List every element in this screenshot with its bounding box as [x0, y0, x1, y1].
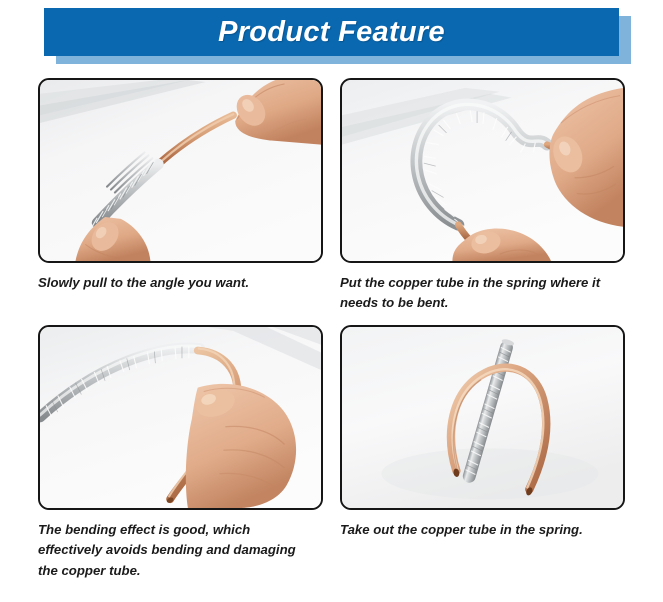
feature-cell-insert-tube: Put the copper tube in the spring where … — [340, 78, 625, 314]
feature-caption-take-out: Take out the copper tube in the spring. — [340, 520, 612, 540]
feature-caption-insert-tube: Put the copper tube in the spring where … — [340, 273, 612, 314]
feature-photo-take-out — [340, 325, 625, 510]
feature-cell-pull-angle: Slowly pull to the angle you want. — [38, 78, 323, 293]
hand-pulling-copper-tube-from-spring-illustration — [40, 80, 321, 261]
feature-caption-pull-angle: Slowly pull to the angle you want. — [38, 273, 310, 293]
feature-photo-bending-effect — [38, 325, 323, 510]
feature-cell-bending-effect: The bending effect is good, which effect… — [38, 325, 323, 581]
feature-cell-take-out: Take out the copper tube in the spring. — [340, 325, 625, 540]
feature-grid: Slowly pull to the angle you want. — [0, 72, 663, 602]
feature-photo-pull-angle — [38, 78, 323, 263]
straight-spring-and-bent-copper-tube-illustration — [342, 327, 623, 508]
page-title: Product Feature — [218, 16, 445, 49]
feature-photo-insert-tube — [340, 78, 625, 263]
header-banner-bar: Product Feature — [44, 8, 619, 56]
hand-holding-bent-copper-tube-illustration — [40, 327, 321, 508]
feature-caption-bending-effect: The bending effect is good, which effect… — [38, 520, 310, 581]
header-banner: Product Feature — [0, 0, 663, 72]
two-hands-bending-spring-illustration — [342, 80, 623, 261]
